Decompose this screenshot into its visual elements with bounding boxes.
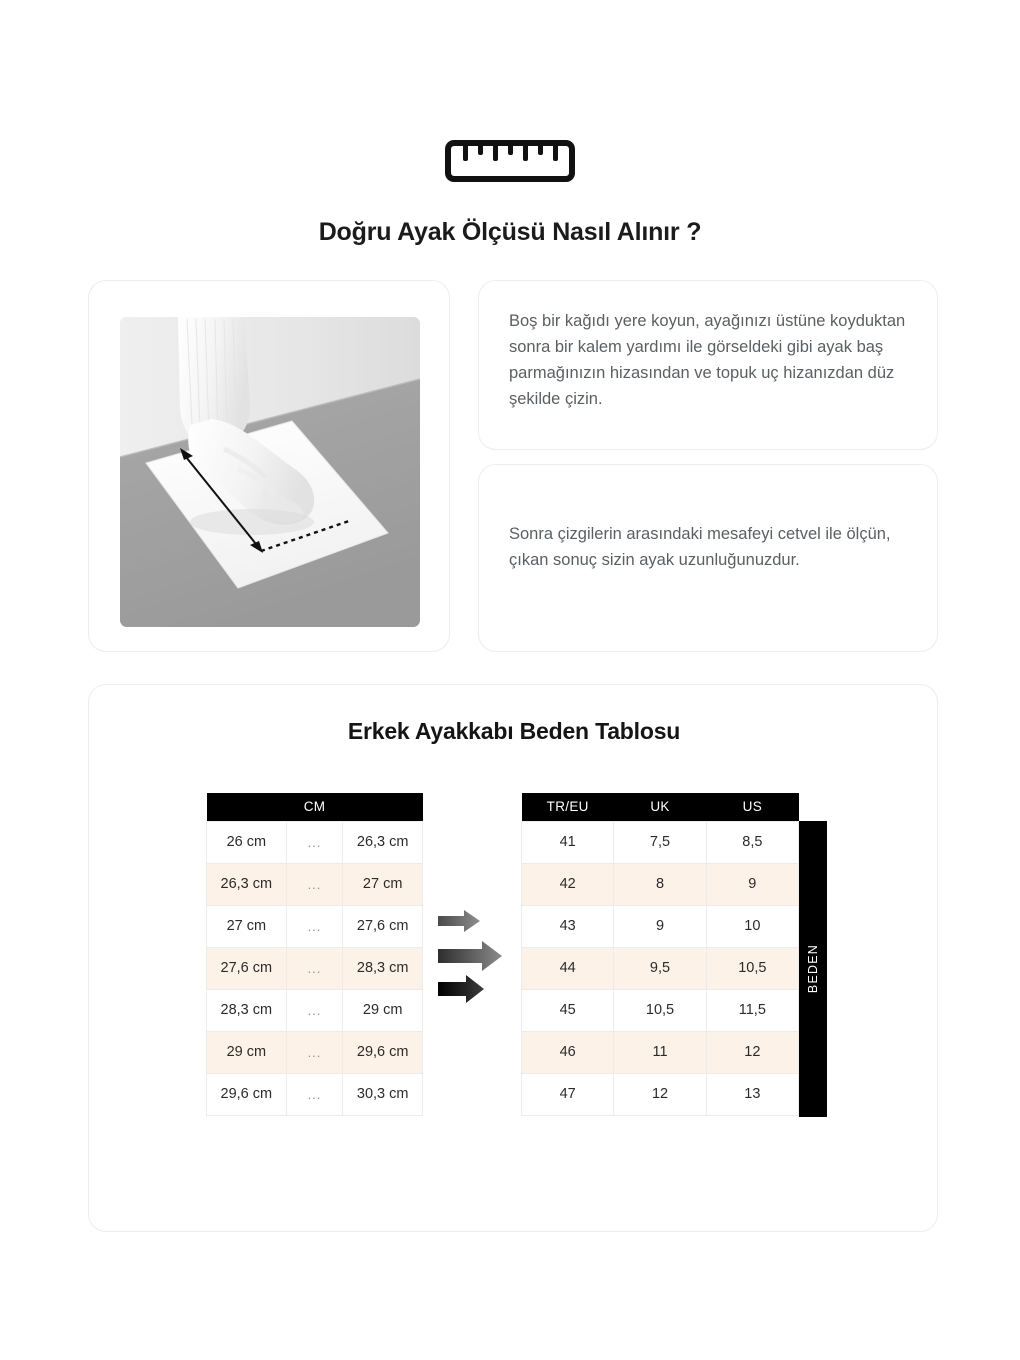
size-uk: 12: [614, 1073, 706, 1115]
size-guide-page: Doğru Ayak Ölçüsü Nasıl Alınır ?: [0, 0, 1020, 1360]
cm-table-row: 27 cm...27,6 cm: [207, 905, 423, 947]
size-us: 13: [706, 1073, 798, 1115]
size-table-body: 417,58,5428943910449,510,54510,511,54611…: [522, 821, 799, 1115]
size-uk: 9: [614, 905, 706, 947]
cm-to: 29,6 cm: [343, 1031, 423, 1073]
cm-dots: ...: [286, 947, 343, 989]
size-uk: 7,5: [614, 821, 706, 863]
cm-dots: ...: [286, 1031, 343, 1073]
size-tr-eu: 46: [522, 1031, 614, 1073]
cm-to: 27 cm: [343, 863, 423, 905]
cm-table-body: 26 cm...26,3 cm26,3 cm...27 cm27 cm...27…: [207, 821, 423, 1115]
cm-to: 27,6 cm: [343, 905, 423, 947]
size-tr-eu: 44: [522, 947, 614, 989]
size-header-us: US: [706, 793, 798, 821]
cm-from: 28,3 cm: [207, 989, 287, 1031]
photo-card: [88, 280, 450, 652]
size-table-row: 4510,511,5: [522, 989, 799, 1031]
size-us: 12: [706, 1031, 798, 1073]
instruction-text-2: Sonra çizgilerin arasındaki mesafeyi cet…: [509, 521, 911, 573]
page-title: Doğru Ayak Ölçüsü Nasıl Alınır ?: [0, 218, 1020, 247]
cm-table-row: 26,3 cm...27 cm: [207, 863, 423, 905]
size-header-uk: UK: [614, 793, 706, 821]
cm-table-row: 28,3 cm...29 cm: [207, 989, 423, 1031]
cm-to: 29 cm: [343, 989, 423, 1031]
cm-from: 27,6 cm: [207, 947, 287, 989]
size-header-tr-eu: TR/EU: [522, 793, 614, 821]
beden-side-label: BEDEN: [799, 821, 827, 1117]
size-tr-eu: 41: [522, 821, 614, 863]
size-uk: 9,5: [614, 947, 706, 989]
size-table-row: 4289: [522, 863, 799, 905]
foot-measurement-photo: [120, 317, 420, 627]
size-table-row: 417,58,5: [522, 821, 799, 863]
size-tr-eu: 42: [522, 863, 614, 905]
size-uk: 8: [614, 863, 706, 905]
cm-dots: ...: [286, 821, 343, 863]
cm-from: 29 cm: [207, 1031, 287, 1073]
cm-table: CM 26 cm...26,3 cm26,3 cm...27 cm27 cm..…: [206, 793, 423, 1116]
instruction-text-1: Boş bir kağıdı yere koyun, ayağınızı üst…: [509, 308, 911, 412]
cm-from: 26,3 cm: [207, 863, 287, 905]
arrow-icon-1: [438, 910, 480, 932]
cm-table-header-row: CM: [207, 793, 423, 821]
size-us: 10,5: [706, 947, 798, 989]
cm-table-row: 29 cm...29,6 cm: [207, 1031, 423, 1073]
size-tr-eu: 45: [522, 989, 614, 1031]
cm-from: 29,6 cm: [207, 1073, 287, 1115]
transfer-arrows: [434, 910, 520, 1010]
size-uk: 10,5: [614, 989, 706, 1031]
size-tr-eu: 47: [522, 1073, 614, 1115]
cm-table-row: 26 cm...26,3 cm: [207, 821, 423, 863]
foot-on-paper-illustration: [120, 317, 420, 627]
arrow-group-icon: [434, 910, 520, 1010]
cm-dots: ...: [286, 1073, 343, 1115]
cm-from: 27 cm: [207, 905, 287, 947]
cm-header: CM: [207, 793, 423, 821]
size-us: 10: [706, 905, 798, 947]
size-uk: 11: [614, 1031, 706, 1073]
size-table-row: 449,510,5: [522, 947, 799, 989]
size-us: 11,5: [706, 989, 798, 1031]
size-conversion-table: TR/EUUKUS 417,58,5428943910449,510,54510…: [521, 793, 799, 1116]
size-table-card: Erkek Ayakkabı Beden Tablosu CM 26 cm...…: [88, 684, 938, 1232]
size-table-title: Erkek Ayakkabı Beden Tablosu: [89, 718, 939, 745]
cm-to: 28,3 cm: [343, 947, 423, 989]
ruler-icon-wrap: [0, 140, 1020, 182]
arrow-icon-3: [438, 975, 484, 1003]
instruction-card-1: Boş bir kağıdı yere koyun, ayağınızı üst…: [478, 280, 938, 450]
cm-to: 30,3 cm: [343, 1073, 423, 1115]
cm-dots: ...: [286, 989, 343, 1031]
size-tr-eu: 43: [522, 905, 614, 947]
arrow-icon-2: [438, 941, 502, 971]
cm-dots: ...: [286, 863, 343, 905]
instruction-card-2: Sonra çizgilerin arasındaki mesafeyi cet…: [478, 464, 938, 652]
size-table-row: 471213: [522, 1073, 799, 1115]
cm-to: 26,3 cm: [343, 821, 423, 863]
size-table-header-row: TR/EUUKUS: [522, 793, 799, 821]
cm-dots: ...: [286, 905, 343, 947]
beden-label-text: BEDEN: [806, 944, 820, 993]
size-us: 8,5: [706, 821, 798, 863]
size-table-row: 43910: [522, 905, 799, 947]
ruler-icon: [445, 140, 575, 182]
size-us: 9: [706, 863, 798, 905]
size-table-row: 461112: [522, 1031, 799, 1073]
cm-from: 26 cm: [207, 821, 287, 863]
cm-table-row: 29,6 cm...30,3 cm: [207, 1073, 423, 1115]
cm-table-row: 27,6 cm...28,3 cm: [207, 947, 423, 989]
